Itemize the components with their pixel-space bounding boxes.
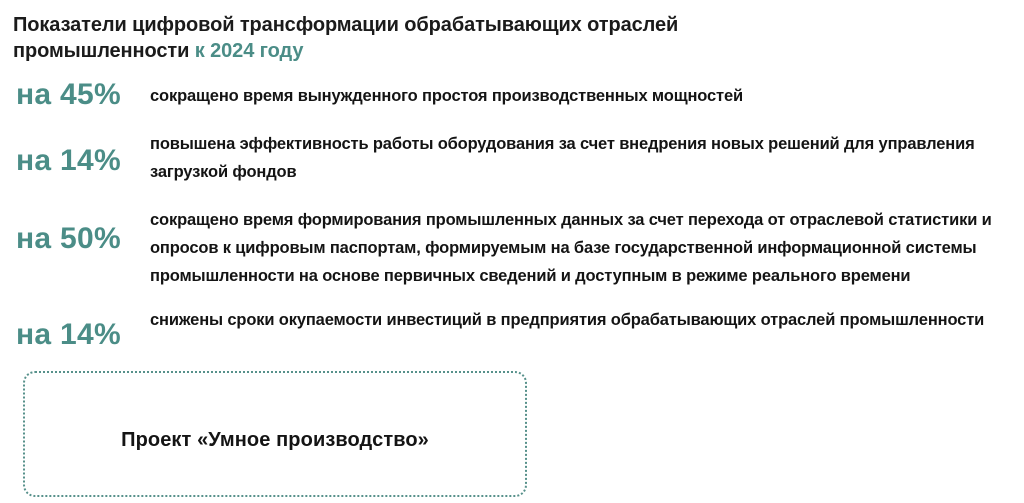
stat-row: на 14% повышена эффективность работы обо…	[0, 128, 1024, 186]
stat-row: на 14% снижены сроки окупаемости инвести…	[0, 304, 1024, 350]
stat-value: на 14%	[0, 146, 150, 176]
stat-row: на 50% сокращено время формирования пром…	[0, 204, 1024, 290]
stat-description: повышена эффективность работы оборудован…	[150, 130, 1024, 186]
stat-description: снижены сроки окупаемости инвестиций в п…	[150, 306, 1024, 334]
page-title-line-1: Показатели цифровой трансформации обраба…	[13, 12, 773, 38]
stat-value: на 14%	[0, 320, 150, 350]
page-title-year-accent: к 2024 году	[195, 40, 304, 62]
stat-description: сокращено время вынужденного простоя про…	[150, 82, 1024, 110]
stat-value: на 50%	[0, 224, 150, 254]
stat-value: на 45%	[0, 80, 150, 110]
page-title: Показатели цифровой трансформации обраба…	[13, 12, 773, 64]
page-title-line-2-main: промышленности	[13, 40, 189, 62]
project-callout-box: Проект «Умное производство»	[23, 371, 527, 497]
project-callout-label: Проект «Умное производство»	[121, 429, 429, 452]
infographic-page: { "title": { "line1": "Показатели цифров…	[0, 0, 1024, 503]
stat-row: на 45% сокращено время вынужденного прос…	[0, 76, 1024, 110]
page-title-line-2: промышленности к 2024 году	[13, 38, 773, 64]
stats-list: на 45% сокращено время вынужденного прос…	[0, 76, 1024, 356]
stat-description: сокращено время формирования промышленны…	[150, 206, 1024, 290]
